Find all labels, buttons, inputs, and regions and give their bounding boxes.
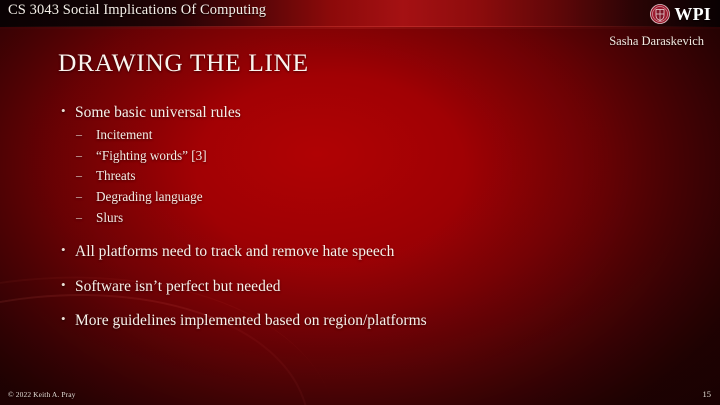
bullet-text: Incitement [96, 127, 152, 142]
sub-bullet-item: –“Fighting words” [3] [58, 149, 678, 164]
sub-bullet-marker-icon: – [76, 169, 82, 182]
bullet-text: Threats [96, 168, 136, 183]
sub-bullet-item: –Degrading language [58, 190, 678, 205]
bullet-text: Some basic universal rules [75, 104, 241, 121]
slide-title: DRAWING THE LINE [58, 48, 309, 78]
sub-bullet-item: –Slurs [58, 211, 678, 226]
sub-bullet-item: –Threats [58, 169, 678, 184]
bullet-text: “Fighting words” [3] [96, 148, 207, 163]
wpi-logo: WPI [650, 1, 711, 26]
bullet-marker-icon: • [61, 312, 66, 327]
sub-bullet-marker-icon: – [76, 149, 82, 162]
sub-bullet-marker-icon: – [76, 128, 82, 141]
bullet-marker-icon: • [61, 104, 66, 119]
bullet-item: •More guidelines implemented based on re… [58, 312, 678, 330]
slide-body: •Some basic universal rules–Incitement–“… [58, 104, 678, 336]
bullet-item: •Some basic universal rules [58, 104, 678, 122]
bullet-item: •All platforms need to track and remove … [58, 243, 678, 261]
bullet-text: Degrading language [96, 189, 203, 204]
bullet-text: Software isn’t perfect but needed [75, 278, 280, 295]
bullet-marker-icon: • [61, 243, 66, 258]
wpi-crest-icon [650, 4, 670, 24]
presentation-slide: CS 3043 Social Implications Of Computing… [0, 0, 720, 405]
author-name: Sasha Daraskevich [609, 34, 704, 49]
sub-bullet-marker-icon: – [76, 190, 82, 203]
sub-bullet-marker-icon: – [76, 211, 82, 224]
slide-number: 15 [703, 389, 712, 399]
slide-header-bar: CS 3043 Social Implications Of Computing [0, 0, 720, 27]
course-title: CS 3043 Social Implications Of Computing [8, 2, 266, 19]
bullet-text: More guidelines implemented based on reg… [75, 312, 427, 329]
bullet-text: Slurs [96, 210, 123, 225]
bullet-marker-icon: • [61, 278, 66, 293]
wpi-wordmark: WPI [674, 5, 711, 23]
copyright-notice: © 2022 Keith A. Pray [8, 390, 76, 399]
header-divider [0, 27, 720, 29]
bullet-text: All platforms need to track and remove h… [75, 243, 394, 260]
bullet-item: •Software isn’t perfect but needed [58, 278, 678, 296]
sub-bullet-item: –Incitement [58, 128, 678, 143]
